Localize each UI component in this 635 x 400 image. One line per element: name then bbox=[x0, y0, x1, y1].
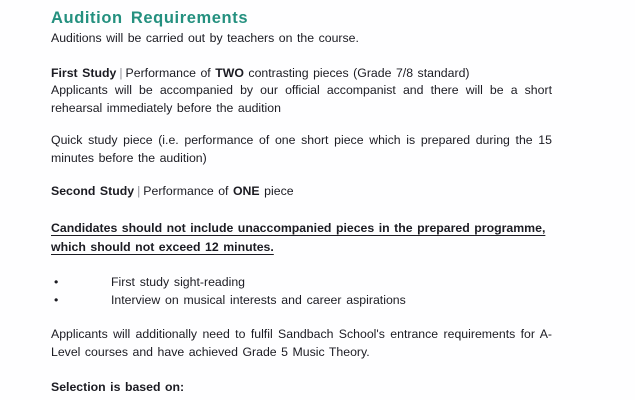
spacer bbox=[51, 257, 552, 274]
spacer bbox=[51, 362, 552, 379]
list-item-label: Interview on musical interests and caree… bbox=[111, 293, 406, 307]
list-item: •First study sight-reading bbox=[51, 274, 552, 292]
second-study-separator: | bbox=[134, 184, 143, 198]
first-study-emphasis: TWO bbox=[215, 66, 244, 80]
list-item-label: First study sight-reading bbox=[111, 275, 245, 289]
candidates-notice-line1: Candidates should not include unaccompan… bbox=[51, 221, 545, 235]
entrance-requirements-paragraph: Applicants will additionally need to ful… bbox=[51, 326, 552, 361]
spacer bbox=[51, 168, 552, 183]
candidates-notice-line2: which should not exceed 12 minutes. bbox=[51, 238, 552, 257]
second-study-text-post: piece bbox=[260, 184, 294, 198]
second-study-paragraph: Second Study|Performance of ONE piece bbox=[51, 183, 552, 201]
document-body: Audition Requirements Auditions will be … bbox=[51, 0, 552, 400]
list-item: •Interview on musical interests and care… bbox=[51, 292, 552, 310]
intro-paragraph: Auditions will be carried out by teacher… bbox=[51, 30, 552, 48]
second-study-text-pre: Performance of bbox=[143, 184, 233, 198]
bullet-icon: • bbox=[54, 292, 58, 310]
second-study-label: Second Study bbox=[51, 184, 134, 198]
spacer bbox=[51, 396, 552, 400]
first-study-separator: | bbox=[116, 66, 125, 80]
page-title: Audition Requirements bbox=[51, 8, 552, 28]
first-study-continuation: Applicants will be accompanied by our of… bbox=[51, 82, 552, 117]
selection-heading: Selection is based on: bbox=[51, 379, 552, 397]
spacer bbox=[51, 117, 552, 132]
quick-study-paragraph: Quick study piece (i.e. performance of o… bbox=[51, 132, 552, 167]
candidates-notice: Candidates should not include unaccompan… bbox=[51, 219, 552, 257]
spacer bbox=[51, 200, 552, 219]
bullet-icon: • bbox=[54, 274, 58, 292]
audition-components-list: •First study sight-reading •Interview on… bbox=[51, 274, 552, 309]
document-page: Audition Requirements Auditions will be … bbox=[0, 0, 635, 400]
first-study-paragraph: First Study|Performance of TWO contrasti… bbox=[51, 65, 552, 83]
spacer bbox=[51, 48, 552, 65]
second-study-emphasis: ONE bbox=[233, 184, 260, 198]
first-study-text-post: contrasting pieces (Grade 7/8 standard) bbox=[244, 66, 470, 80]
spacer bbox=[51, 309, 552, 326]
first-study-label: First Study bbox=[51, 66, 116, 80]
first-study-text-pre: Performance of bbox=[126, 66, 216, 80]
